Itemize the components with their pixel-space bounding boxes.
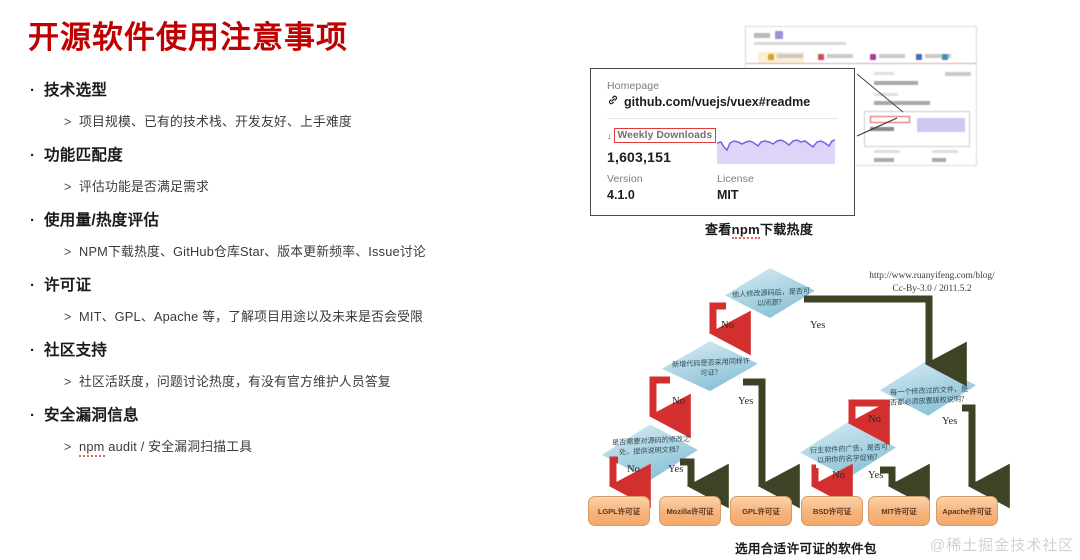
- arrow-d1-yes: [804, 299, 929, 364]
- bullet-heading-text: 许可证: [44, 271, 91, 301]
- sidebar-value: [874, 81, 918, 85]
- license-value: MIT: [717, 188, 754, 202]
- tab-versions[interactable]: [942, 54, 976, 60]
- source-attribution: http://www.ruanyifeng.com/blog/ Cc-By-3.…: [852, 270, 1012, 296]
- license-result-apache: Apache许可证: [936, 496, 998, 526]
- bullet-sub: > 社区活跃度，问题讨论热度，有没有官方维护人员答复: [30, 366, 560, 398]
- bullet-heading-text: 使用量/热度评估: [44, 206, 159, 236]
- bullet-block-2: · 使用量/热度评估 > NPM下载热度、GitHub仓库Star、版本更新频率…: [30, 206, 560, 268]
- homepage-label: Homepage: [607, 80, 838, 92]
- bullet-sub-text: 评估功能是否满足需求: [79, 171, 209, 203]
- edge-label-d5-no: No: [832, 470, 845, 481]
- bullet-block-4: · 社区支持 > 社区活跃度，问题讨论热度，有没有官方维护人员答复: [30, 336, 560, 398]
- bullet-heading-text: 功能匹配度: [44, 141, 123, 171]
- weekly-downloads-inset: [864, 111, 970, 147]
- edge-label-d5-yes: Yes: [868, 470, 883, 481]
- npm-badge-icon: [775, 31, 783, 39]
- downloads-sparkline: [917, 118, 965, 132]
- bullet-heading: · 功能匹配度: [30, 141, 560, 171]
- weekly-downloads-value: [870, 127, 894, 131]
- edge-label-d4-yes: Yes: [942, 416, 957, 427]
- sidebar-label: [874, 72, 894, 75]
- license-label: License: [717, 173, 754, 185]
- divider: [607, 118, 838, 119]
- version-license-row: Version 4.1.0 License MIT: [607, 173, 838, 202]
- bullet-marker-icon: ·: [30, 76, 44, 106]
- sub-marker-icon: >: [64, 106, 79, 138]
- bullet-heading-text: 安全漏洞信息: [44, 401, 139, 431]
- homepage-link-row[interactable]: github.com/vuejs/vuex#readme: [607, 94, 838, 109]
- sidebar-label: [874, 93, 898, 96]
- bullet-sub-text: NPM下载热度、GitHub仓库Star、版本更新频率、Issue讨论: [79, 236, 426, 268]
- sidebar-value: [932, 158, 946, 162]
- weekly-downloads-label: Weekly Downloads: [614, 128, 717, 143]
- arrow-d2-no: [653, 380, 670, 416]
- spellcheck-underlined-word: npm: [79, 439, 105, 457]
- npm-details-card: Homepage github.com/vuejs/vuex#readme: [590, 68, 855, 216]
- bullet-marker-icon: ·: [30, 336, 44, 366]
- sub-marker-icon: >: [64, 431, 79, 463]
- sidebar-label: [932, 150, 958, 153]
- bullet-sub-text: MIT、GPL、Apache 等，了解项目用途以及未来是否会受限: [79, 301, 423, 333]
- weekly-downloads-left: ↓ Weekly Downloads 1,603,151: [607, 128, 717, 165]
- weekly-downloads-value: 1,603,151: [607, 149, 717, 165]
- tab-dependencies[interactable]: [870, 54, 905, 60]
- bullet-list: · 技术选型 > 项目规模、已有的技术栈、开发友好、上手难度 · 功能匹配度 >…: [30, 76, 560, 466]
- watermark: @稀土掘金技术社区: [930, 534, 1074, 555]
- license-result-mozilla: Mozilla许可证: [659, 496, 721, 526]
- caption-post: 下载热度: [760, 222, 813, 237]
- edge-label-d4-no: No: [868, 414, 881, 425]
- bullet-marker-icon: ·: [30, 401, 44, 431]
- homepage-row: Homepage github.com/vuejs/vuex#readme: [607, 80, 838, 109]
- npm-screenshot-figure: Homepage github.com/vuejs/vuex#readme: [585, 18, 985, 218]
- version-label: Version: [607, 173, 717, 185]
- arrow-d4-yes: [962, 408, 972, 486]
- slide-canvas: 开源软件使用注意事项 · 技术选型 > 项目规模、已有的技术栈、开发友好、上手难…: [0, 0, 1080, 560]
- caption-pre: 查看: [705, 222, 732, 237]
- bullet-heading: · 安全漏洞信息: [30, 401, 560, 431]
- sub-marker-icon: >: [64, 236, 79, 268]
- npm-logo-icon: [754, 33, 770, 38]
- bullet-marker-icon: ·: [30, 271, 44, 301]
- bullet-marker-icon: ·: [30, 141, 44, 171]
- edge-label-d3-yes: Yes: [668, 464, 683, 475]
- sidebar-label: [874, 150, 900, 153]
- npm-tabbar: [746, 51, 976, 64]
- bullet-heading-text: 技术选型: [44, 76, 107, 106]
- bullet-heading: · 社区支持: [30, 336, 560, 366]
- weekly-downloads-highlight: [870, 116, 910, 123]
- bullet-sub: > 项目规模、已有的技术栈、开发友好、上手难度: [30, 106, 560, 138]
- edge-label-d1-no: No: [721, 320, 734, 331]
- tab-code[interactable]: [818, 54, 853, 60]
- weekly-downloads-head: ↓ Weekly Downloads: [607, 128, 717, 143]
- edge-label-d1-yes: Yes: [810, 320, 825, 331]
- bullet-block-0: · 技术选型 > 项目规模、已有的技术栈、开发友好、上手难度: [30, 76, 560, 138]
- bullet-block-1: · 功能匹配度 > 评估功能是否满足需求: [30, 141, 560, 203]
- sub-marker-icon: >: [64, 366, 79, 398]
- bullet-sub: > NPM下载热度、GitHub仓库Star、版本更新频率、Issue讨论: [30, 236, 560, 268]
- source-license: Cc-By-3.0 / 2011.5.2: [852, 283, 1012, 296]
- license-result-mit: MIT许可证: [868, 496, 930, 526]
- sidebar-value: [874, 101, 930, 105]
- tab-readme[interactable]: [768, 54, 803, 60]
- bullet-heading-text: 社区支持: [44, 336, 107, 366]
- bullet-sub: > MIT、GPL、Apache 等，了解项目用途以及未来是否会受限: [30, 301, 560, 333]
- sub-marker-icon: >: [64, 171, 79, 203]
- bullet-block-3: · 许可证 > MIT、GPL、Apache 等，了解项目用途以及未来是否会受限: [30, 271, 560, 333]
- bullet-sub-text: 社区活跃度，问题讨论热度，有没有官方维护人员答复: [79, 366, 391, 398]
- edge-label-d2-yes: Yes: [738, 396, 753, 407]
- link-icon: [607, 94, 619, 109]
- bullet-sub-text: 项目规模、已有的技术栈、开发友好、上手难度: [79, 106, 352, 138]
- bullet-block-5: · 安全漏洞信息 > npm audit / 安全漏洞扫描工具: [30, 401, 560, 463]
- license-decision-flowchart: http://www.ruanyifeng.com/blog/ Cc-By-3.…: [580, 268, 1080, 538]
- downloads-sparkline-chart: [717, 134, 838, 162]
- license-result-bsd: BSD许可证: [801, 496, 863, 526]
- license-result-lgpl: LGPL许可证: [588, 496, 650, 526]
- edge-label-d2-no: No: [672, 396, 685, 407]
- bullet-sub-text: npm audit / 安全漏洞扫描工具: [79, 431, 252, 463]
- npm-figure-caption: 查看npm下载热度: [705, 219, 813, 238]
- sidebar-value: [874, 158, 894, 162]
- license-col: License MIT: [717, 173, 754, 202]
- bullet-sub-text-rest: audit / 安全漏洞扫描工具: [105, 439, 253, 454]
- caption-npm-word: npm: [732, 222, 760, 239]
- homepage-url[interactable]: github.com/vuejs/vuex#readme: [624, 95, 810, 109]
- source-url: http://www.ruanyifeng.com/blog/: [852, 270, 1012, 283]
- bullet-sub: > 评估功能是否满足需求: [30, 171, 560, 203]
- bullet-heading: · 使用量/热度评估: [30, 206, 560, 236]
- edge-label-d3-no: No: [627, 464, 640, 475]
- version-value: 4.1.0: [607, 188, 717, 202]
- sub-marker-icon: >: [64, 301, 79, 333]
- version-col: Version 4.1.0: [607, 173, 717, 202]
- download-arrow-icon: ↓: [607, 130, 612, 142]
- flowchart-caption: 选用合适许可证的软件包: [735, 538, 877, 557]
- bullet-heading: · 技术选型: [30, 76, 560, 106]
- license-result-gpl: GPL许可证: [730, 496, 792, 526]
- breadcrumb: [754, 42, 846, 45]
- arrow-d5-no: [815, 468, 816, 486]
- weekly-downloads-row: ↓ Weekly Downloads 1,603,151: [607, 128, 838, 165]
- bullet-marker-icon: ·: [30, 206, 44, 236]
- page-title: 开源软件使用注意事项: [28, 12, 348, 57]
- bullet-heading: · 许可证: [30, 271, 560, 301]
- bullet-sub: > npm audit / 安全漏洞扫描工具: [30, 431, 560, 463]
- arrow-d3-no: [613, 460, 618, 486]
